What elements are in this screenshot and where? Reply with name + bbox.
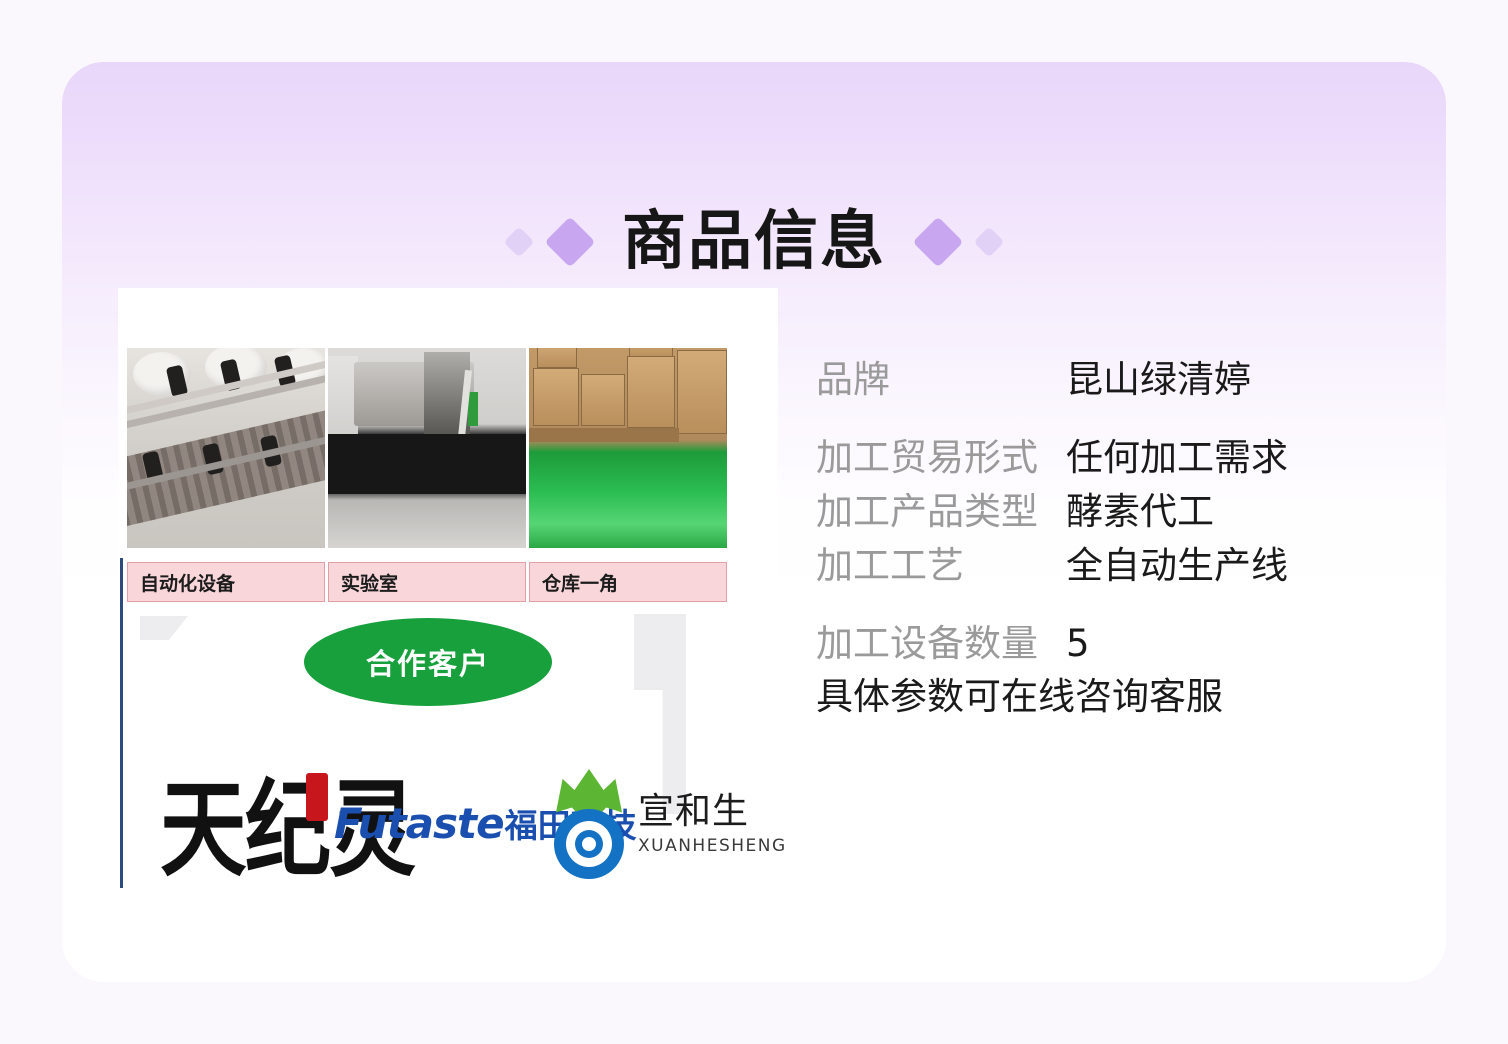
tianjiling-seal-icon bbox=[306, 773, 328, 821]
xuanhesheng-en-text: XUANHESHENG bbox=[638, 836, 787, 856]
carton-box-shape bbox=[627, 356, 675, 428]
diamond-large-left-icon bbox=[545, 217, 596, 268]
xuanhesheng-mark-icon bbox=[548, 769, 630, 877]
photo-cell-laboratory bbox=[328, 348, 526, 548]
automation-equipment-photo bbox=[127, 348, 325, 548]
roller-shape bbox=[202, 443, 224, 476]
ring-core-icon bbox=[582, 837, 596, 851]
photo-caption-laboratory: 实验室 bbox=[328, 562, 526, 602]
carton-box-shape bbox=[533, 368, 579, 426]
photo-strip bbox=[127, 348, 729, 548]
lab-green-accent bbox=[468, 392, 478, 426]
card-body: 自动化设备 实验室 仓库一角 合作客户 天纪灵 bbox=[62, 288, 1446, 982]
spec-row-equipment-count: 加工设备数量 5 bbox=[816, 620, 1386, 668]
carton-box-shape bbox=[581, 374, 625, 426]
page-title: 商品信息 bbox=[622, 210, 886, 274]
photo-caption-row: 自动化设备 实验室 仓库一角 bbox=[127, 562, 729, 602]
diamond-large-right-icon bbox=[913, 217, 964, 268]
spec-label-trade-form: 加工贸易形式 bbox=[816, 434, 1066, 482]
futaste-latin-wordmark: Futaste bbox=[334, 799, 504, 848]
roller-shape bbox=[142, 451, 164, 484]
decorative-vertical-rule bbox=[120, 558, 123, 888]
futaste-logo: Futaste 福田科技 bbox=[334, 788, 548, 858]
spec-label-process: 加工工艺 bbox=[816, 542, 1066, 590]
spec-label-brand: 品牌 bbox=[816, 356, 1066, 404]
tianjiling-logo: 天纪灵 bbox=[148, 759, 334, 887]
diamond-small-right-icon bbox=[973, 226, 1004, 257]
partner-logo-row: 天纪灵 Futaste 福田科技 bbox=[148, 758, 748, 888]
spec-value-trade-form: 任何加工需求 bbox=[1066, 434, 1386, 482]
photo-caption-warehouse: 仓库一角 bbox=[529, 562, 727, 602]
carton-box-shape bbox=[677, 350, 727, 434]
spec-row-product-type: 加工产品类型 酵素代工 bbox=[816, 488, 1386, 536]
roller-shape bbox=[260, 435, 282, 468]
pallet-shape bbox=[529, 428, 679, 442]
photo-cell-warehouse bbox=[529, 348, 727, 548]
decorative-corner-top-right bbox=[752, 606, 778, 620]
partner-clients-label: 合作客户 bbox=[366, 641, 490, 683]
spec-list: 品牌 昆山绿清婷 加工贸易形式 任何加工需求 加工产品类型 酵素代工 加工工艺 … bbox=[778, 288, 1446, 982]
spec-value-equipment-count: 5 bbox=[1066, 620, 1386, 668]
media-panel: 自动化设备 实验室 仓库一角 合作客户 天纪灵 bbox=[118, 288, 778, 982]
xuanhesheng-logo: 宣和生 XUANHESHENG bbox=[548, 764, 748, 882]
xuanhesheng-wordmark: 宣和生 XUANHESHENG bbox=[638, 790, 787, 856]
photo-cell-automation bbox=[127, 348, 325, 548]
lab-bench-shape bbox=[328, 434, 526, 494]
photo-caption-automation: 自动化设备 bbox=[127, 562, 325, 602]
screenshot-root: 商品信息 bbox=[0, 0, 1508, 1044]
spec-label-equipment-count: 加工设备数量 bbox=[816, 620, 1066, 668]
partner-clients-badge: 合作客户 bbox=[304, 618, 552, 706]
xuanhesheng-cn-text: 宣和生 bbox=[638, 790, 787, 834]
spec-value-brand: 昆山绿清婷 bbox=[1066, 356, 1386, 404]
spec-row-trade-form: 加工贸易形式 任何加工需求 bbox=[816, 434, 1386, 482]
spec-row-brand: 品牌 昆山绿清婷 bbox=[816, 356, 1386, 404]
spec-note: 具体参数可在线咨询客服 bbox=[816, 672, 1386, 722]
product-info-card: 商品信息 bbox=[62, 62, 1446, 982]
spec-label-product-type: 加工产品类型 bbox=[816, 488, 1066, 536]
spec-row-process: 加工工艺 全自动生产线 bbox=[816, 542, 1386, 590]
warehouse-corner-photo bbox=[529, 348, 727, 548]
laboratory-photo bbox=[328, 348, 526, 548]
page-title-row: 商品信息 bbox=[62, 202, 1446, 282]
carton-box-shape bbox=[537, 348, 577, 368]
spec-value-process: 全自动生产线 bbox=[1066, 542, 1386, 590]
spec-value-product-type: 酵素代工 bbox=[1066, 488, 1386, 536]
partner-badge-wrap: 合作客户 bbox=[118, 618, 738, 706]
diamond-small-left-icon bbox=[503, 226, 534, 257]
